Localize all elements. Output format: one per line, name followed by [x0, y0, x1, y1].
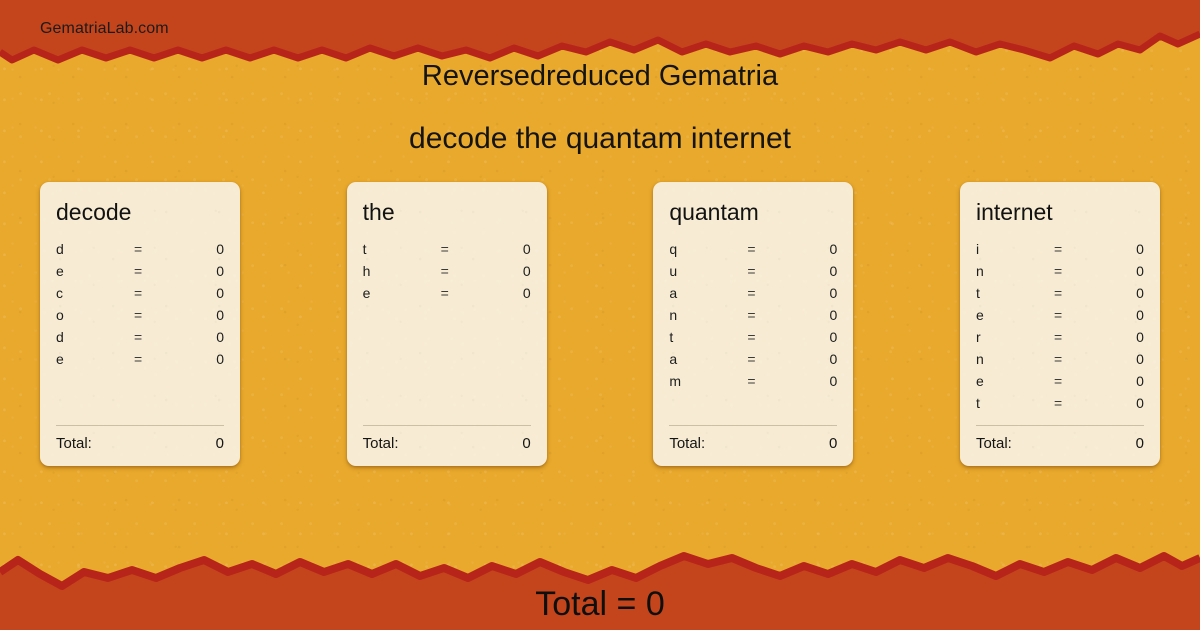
word-card-title: quantam: [669, 200, 837, 225]
letter-label: n: [669, 307, 747, 323]
letter-value: 0: [180, 263, 224, 279]
equals-sign: =: [134, 263, 180, 279]
equals-sign: =: [441, 263, 487, 279]
gematria-page: GematriaLab.com Reversedreduced Gematria…: [0, 0, 1200, 630]
letter-label: d: [56, 329, 134, 345]
letter-value: 0: [793, 307, 837, 323]
letter-label: e: [976, 307, 1054, 323]
letter-label: a: [669, 285, 747, 301]
letter-label: h: [363, 263, 441, 279]
letter-label: t: [363, 241, 441, 257]
letter-value: 0: [487, 285, 531, 301]
equals-sign: =: [1054, 351, 1100, 367]
letter-row: a=0: [669, 351, 837, 373]
letter-value: 0: [180, 241, 224, 257]
letter-row: e=0: [976, 373, 1144, 395]
letter-value: 0: [1100, 285, 1144, 301]
equals-sign: =: [441, 241, 487, 257]
word-card-inner: interneti=0n=0t=0e=0r=0n=0e=0t=0Total:0: [976, 200, 1144, 452]
equals-sign: =: [747, 241, 793, 257]
letter-row: d=0: [56, 241, 224, 263]
word-card: quantamq=0u=0a=0n=0t=0a=0m=0Total:0: [653, 182, 853, 466]
letter-row: n=0: [976, 351, 1144, 373]
letter-label: e: [56, 351, 134, 367]
card-divider: [669, 425, 837, 426]
row-spacer: [669, 395, 837, 417]
equals-sign: =: [1054, 329, 1100, 345]
equals-sign: =: [441, 285, 487, 301]
letter-value: 0: [793, 351, 837, 367]
equals-sign: =: [134, 285, 180, 301]
letter-label: n: [976, 351, 1054, 367]
card-total-value: 0: [522, 435, 530, 452]
equals-sign: =: [747, 285, 793, 301]
letter-row: t=0: [363, 241, 531, 263]
word-cards-row: decoded=0e=0c=0o=0d=0e=0Total:0thet=0h=0…: [40, 182, 1160, 466]
letter-label: d: [56, 241, 134, 257]
equals-sign: =: [134, 307, 180, 323]
letter-value: 0: [793, 373, 837, 389]
word-card-title: decode: [56, 200, 224, 225]
letter-label: e: [56, 263, 134, 279]
equals-sign: =: [1054, 373, 1100, 389]
letter-row: h=0: [363, 263, 531, 285]
card-total-row: Total:0: [56, 435, 224, 452]
card-total-row: Total:0: [976, 435, 1144, 452]
letter-value: 0: [1100, 263, 1144, 279]
equals-sign: =: [134, 329, 180, 345]
letter-rows: i=0n=0t=0e=0r=0n=0e=0t=0: [976, 241, 1144, 417]
letter-row: e=0: [56, 351, 224, 373]
letter-value: 0: [180, 329, 224, 345]
equals-sign: =: [1054, 241, 1100, 257]
card-total-value: 0: [1136, 435, 1144, 452]
letter-value: 0: [793, 241, 837, 257]
letter-label: e: [363, 285, 441, 301]
equals-sign: =: [747, 329, 793, 345]
word-card: interneti=0n=0t=0e=0r=0n=0e=0t=0Total:0: [960, 182, 1160, 466]
letter-row: i=0: [976, 241, 1144, 263]
equals-sign: =: [134, 351, 180, 367]
letter-row: o=0: [56, 307, 224, 329]
card-total-value: 0: [216, 435, 224, 452]
letter-value: 0: [487, 263, 531, 279]
equals-sign: =: [747, 263, 793, 279]
letter-row: t=0: [976, 395, 1144, 417]
equals-sign: =: [1054, 263, 1100, 279]
letter-value: 0: [1100, 241, 1144, 257]
letter-label: a: [669, 351, 747, 367]
letter-row: r=0: [976, 329, 1144, 351]
letter-row: u=0: [669, 263, 837, 285]
card-total-label: Total:: [363, 435, 523, 452]
word-card-inner: decoded=0e=0c=0o=0d=0e=0Total:0: [56, 200, 224, 452]
row-spacer: [363, 307, 531, 417]
equals-sign: =: [747, 351, 793, 367]
letter-rows: t=0h=0e=0: [363, 241, 531, 417]
row-spacer: [56, 373, 224, 417]
letter-label: e: [976, 373, 1054, 389]
letter-label: u: [669, 263, 747, 279]
letter-label: i: [976, 241, 1054, 257]
letter-value: 0: [1100, 373, 1144, 389]
letter-rows: d=0e=0c=0o=0d=0e=0: [56, 241, 224, 417]
word-card: decoded=0e=0c=0o=0d=0e=0Total:0: [40, 182, 240, 466]
letter-label: c: [56, 285, 134, 301]
word-card-title: the: [363, 200, 531, 225]
letter-row: n=0: [669, 307, 837, 329]
letter-label: m: [669, 373, 747, 389]
letter-label: n: [976, 263, 1054, 279]
letter-value: 0: [180, 351, 224, 367]
letter-value: 0: [793, 285, 837, 301]
letter-row: t=0: [976, 285, 1144, 307]
equals-sign: =: [747, 373, 793, 389]
word-card: thet=0h=0e=0Total:0: [347, 182, 547, 466]
gematria-method-title: Reversedreduced Gematria: [0, 60, 1200, 93]
letter-row: d=0: [56, 329, 224, 351]
card-total-row: Total:0: [669, 435, 837, 452]
equals-sign: =: [1054, 395, 1100, 411]
equals-sign: =: [1054, 285, 1100, 301]
card-total-row: Total:0: [363, 435, 531, 452]
letter-label: t: [976, 395, 1054, 411]
letter-value: 0: [793, 263, 837, 279]
letter-label: t: [669, 329, 747, 345]
letter-value: 0: [793, 329, 837, 345]
letter-value: 0: [1100, 395, 1144, 411]
letter-label: t: [976, 285, 1054, 301]
equals-sign: =: [1054, 307, 1100, 323]
letter-rows: q=0u=0a=0n=0t=0a=0m=0: [669, 241, 837, 417]
equals-sign: =: [134, 241, 180, 257]
card-total-label: Total:: [56, 435, 216, 452]
letter-row: t=0: [669, 329, 837, 351]
letter-row: c=0: [56, 285, 224, 307]
letter-label: o: [56, 307, 134, 323]
card-divider: [976, 425, 1144, 426]
letter-row: e=0: [976, 307, 1144, 329]
grand-total: Total = 0: [0, 585, 1200, 624]
letter-value: 0: [1100, 307, 1144, 323]
letter-value: 0: [1100, 351, 1144, 367]
letter-value: 0: [1100, 329, 1144, 345]
letter-row: e=0: [56, 263, 224, 285]
letter-label: q: [669, 241, 747, 257]
letter-value: 0: [487, 241, 531, 257]
card-total-label: Total:: [669, 435, 829, 452]
letter-row: e=0: [363, 285, 531, 307]
word-card-title: internet: [976, 200, 1144, 225]
card-total-label: Total:: [976, 435, 1136, 452]
letter-value: 0: [180, 285, 224, 301]
gematria-phrase-title: decode the quantam internet: [0, 122, 1200, 156]
letter-value: 0: [180, 307, 224, 323]
card-divider: [363, 425, 531, 426]
card-total-value: 0: [829, 435, 837, 452]
site-brand[interactable]: GematriaLab.com: [40, 20, 169, 38]
letter-row: n=0: [976, 263, 1144, 285]
word-card-inner: thet=0h=0e=0Total:0: [363, 200, 531, 452]
equals-sign: =: [747, 307, 793, 323]
letter-row: q=0: [669, 241, 837, 263]
letter-row: a=0: [669, 285, 837, 307]
letter-row: m=0: [669, 373, 837, 395]
card-divider: [56, 425, 224, 426]
letter-label: r: [976, 329, 1054, 345]
word-card-inner: quantamq=0u=0a=0n=0t=0a=0m=0Total:0: [669, 200, 837, 452]
